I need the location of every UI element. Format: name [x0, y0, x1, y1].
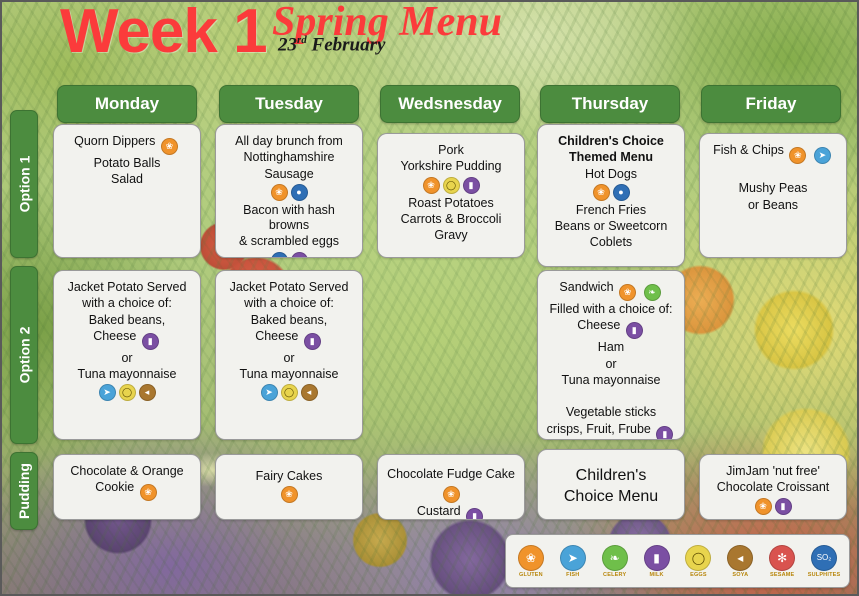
soya-icon: ◂: [727, 545, 753, 571]
title-date-day: 23: [278, 34, 297, 55]
menu-line: Children's: [544, 466, 678, 486]
menu-line: Mushy Peas: [706, 181, 840, 196]
menu-line: Pork: [384, 143, 518, 158]
row-label-pudding-text: Pudding: [16, 463, 32, 519]
allergen-icon-row: ● ▮: [222, 252, 356, 259]
gluten-icon: ❀: [755, 498, 772, 515]
menu-line: Cheese ▮: [544, 318, 678, 339]
allergen-legend: ❀ GLUTEN ➤ FISH ❧ CELERY ▮ MILK ◯ EGGS ◂…: [505, 534, 850, 588]
cell-option2-tuesday: Jacket Potato Served with a choice of: B…: [215, 270, 363, 440]
menu-text: crisps, Fruit, Frube: [547, 422, 651, 436]
menu-line: Tuna mayonnaise: [60, 367, 194, 382]
menu-line: or Beans: [706, 198, 840, 213]
day-header-thursday: Thursday: [540, 85, 680, 123]
celery-icon: ❧: [602, 545, 628, 571]
menu-text: Custard: [417, 504, 461, 518]
eggs-icon: ◯: [685, 545, 711, 571]
title-date: 23rd February: [278, 34, 385, 56]
menu-line: or: [544, 357, 678, 372]
menu-line: or: [222, 351, 356, 366]
menu-line: Tuna mayonnaise: [544, 373, 678, 388]
menu-line: with a choice of:: [60, 296, 194, 311]
legend-label: EGGS: [690, 572, 707, 578]
legend-label: MILK: [649, 572, 663, 578]
allergen-icon-row: ❀ ●: [222, 184, 356, 201]
sulphite-icon: ●: [271, 252, 288, 259]
menu-line: Nottinghamshire: [222, 150, 356, 165]
gluten-icon: ❀: [518, 545, 544, 571]
legend-item-sulphites: SO₂ SULPHITES: [805, 545, 843, 578]
menu-line: Chocolate Croissant: [706, 480, 840, 495]
row-label-option-2-text: Option 2: [16, 327, 32, 384]
allergen-icon-row: ❀ ▮: [706, 498, 840, 515]
day-header-monday: Monday: [57, 85, 197, 123]
menu-line: Yorkshire Pudding: [384, 159, 518, 174]
gluten-icon: ❀: [619, 284, 636, 301]
gluten-icon: ❀: [423, 177, 440, 194]
row-label-pudding: Pudding: [10, 452, 38, 530]
menu-line: Choice Menu: [544, 487, 678, 507]
menu-line: Gravy: [384, 228, 518, 243]
cell-pudding-friday: JimJam 'nut free' Chocolate Croissant ❀ …: [699, 454, 847, 520]
menu-title: Week 1 Spring Menu 23rd February: [0, 0, 859, 72]
cell-option1-wednesday: Pork Yorkshire Pudding ❀ ◯ ▮ Roast Potat…: [377, 133, 525, 258]
menu-line: Chocolate & Orange: [60, 464, 194, 479]
menu-line: Fish & Chips ❀ ➤: [706, 143, 840, 164]
menu-line: Vegetable sticks: [544, 405, 678, 420]
cell-option2-thursday: Sandwich ❀ ❧ Filled with a choice of: Ch…: [537, 270, 685, 440]
menu-text: Fish & Chips: [713, 143, 784, 157]
allergen-icon-row: ➤ ◯ ◂: [222, 384, 356, 401]
cell-pudding-wednesday: Chocolate Fudge Cake ❀ Custard ▮: [377, 454, 525, 520]
gluten-icon: ❀: [161, 138, 178, 155]
menu-text: Cheese: [255, 329, 298, 343]
menu-line: Themed Menu: [544, 150, 678, 165]
cell-option1-friday: Fish & Chips ❀ ➤ Mushy Peas or Beans: [699, 133, 847, 258]
allergen-icon-row: ❀ ◯ ▮: [384, 177, 518, 194]
menu-line: Quorn Dippers ❀: [60, 134, 194, 155]
allergen-icon-row: ❀: [222, 486, 356, 503]
gluten-icon: ❀: [271, 184, 288, 201]
menu-line: Hot Dogs: [544, 167, 678, 182]
legend-item-eggs: ◯ EGGS: [679, 545, 717, 578]
menu-line: Fairy Cakes: [222, 469, 356, 484]
legend-label: SOYA: [732, 572, 748, 578]
day-header-wednesday: Wedsnesday: [380, 85, 520, 123]
menu-line: Baked beans,: [222, 313, 356, 328]
row-label-option-1: Option 1: [10, 110, 38, 258]
gluten-icon: ❀: [789, 147, 806, 164]
menu-line: Roast Potatoes: [384, 196, 518, 211]
milk-icon: ▮: [463, 177, 480, 194]
eggs-icon: ◯: [119, 384, 136, 401]
gluten-icon: ❀: [140, 484, 157, 501]
menu-line: Sandwich ❀ ❧: [544, 280, 678, 301]
menu-text: Cookie: [95, 480, 134, 494]
menu-text: Quorn Dippers: [74, 134, 155, 148]
sulphite-icon: ●: [291, 184, 308, 201]
legend-label: SESAME: [770, 572, 794, 578]
menu-line: Salad: [60, 172, 194, 187]
menu-text: Cheese: [93, 329, 136, 343]
eggs-icon: ◯: [281, 384, 298, 401]
title-date-ordinal: rd: [297, 34, 307, 46]
menu-line: Custard ▮: [384, 504, 518, 520]
menu-line: or: [60, 351, 194, 366]
legend-item-gluten: ❀ GLUTEN: [512, 545, 550, 578]
sesame-icon: ✻: [769, 545, 795, 571]
title-date-month: February: [307, 34, 386, 55]
milk-icon: ▮: [304, 333, 321, 350]
menu-line: French Fries: [544, 203, 678, 218]
allergen-icon-row: ❀ ●: [544, 184, 678, 201]
allergen-icon-row: ➤ ◯ ◂: [60, 384, 194, 401]
cell-option2-monday: Jacket Potato Served with a choice of: B…: [53, 270, 201, 440]
milk-icon: ▮: [291, 252, 308, 259]
milk-icon: ▮: [142, 333, 159, 350]
eggs-icon: ◯: [443, 177, 460, 194]
cell-pudding-monday: Chocolate & Orange Cookie ❀: [53, 454, 201, 520]
menu-line: Cookie ❀: [60, 480, 194, 501]
legend-label: FISH: [566, 572, 579, 578]
gluten-icon: ❀: [443, 486, 460, 503]
legend-label: SULPHITES: [808, 572, 841, 578]
fish-icon: ➤: [560, 545, 586, 571]
legend-item-soya: ◂ SOYA: [721, 545, 759, 578]
row-label-option-2: Option 2: [10, 266, 38, 444]
menu-line: Bacon with hash browns: [222, 203, 356, 234]
menu-line: with a choice of:: [222, 296, 356, 311]
milk-icon: ▮: [644, 545, 670, 571]
gluten-icon: ❀: [281, 486, 298, 503]
legend-item-sesame: ✻ SESAME: [763, 545, 801, 578]
sulphite-icon: SO₂: [811, 545, 837, 571]
menu-line: Tuna mayonnaise: [222, 367, 356, 382]
menu-line: Sausage: [222, 167, 356, 182]
menu-text: Cheese: [577, 318, 620, 332]
menu-line: Ham: [544, 340, 678, 355]
milk-icon: ▮: [626, 322, 643, 339]
menu-line: Cheese ▮: [60, 329, 194, 350]
menu-line: Beans or Sweetcorn: [544, 219, 678, 234]
menu-line: Chocolate Fudge Cake ❀: [384, 467, 518, 503]
soya-icon: ◂: [139, 384, 156, 401]
menu-line: [544, 389, 678, 404]
menu-line: [706, 165, 840, 180]
menu-line: All day brunch from: [222, 134, 356, 149]
menu-text: Chocolate Fudge Cake: [387, 467, 515, 481]
fish-icon: ➤: [814, 147, 831, 164]
menu-line: Carrots & Broccoli: [384, 212, 518, 227]
legend-item-fish: ➤ FISH: [554, 545, 592, 578]
legend-label: GLUTEN: [519, 572, 543, 578]
menu-line: & scrambled eggs: [222, 234, 356, 249]
legend-item-celery: ❧ CELERY: [596, 545, 634, 578]
cell-option1-monday: Quorn Dippers ❀ Potato Balls Salad: [53, 124, 201, 258]
menu-line: Cheese ▮: [222, 329, 356, 350]
soya-icon: ◂: [301, 384, 318, 401]
menu-line: Jacket Potato Served: [222, 280, 356, 295]
cell-pudding-thursday: Children's Choice Menu: [537, 449, 685, 520]
fish-icon: ➤: [99, 384, 116, 401]
legend-item-milk: ▮ MILK: [638, 545, 676, 578]
menu-line: crisps, Fruit, Frube ▮: [544, 422, 678, 441]
cell-pudding-tuesday: Fairy Cakes ❀: [215, 454, 363, 520]
menu-line: Baked beans,: [60, 313, 194, 328]
cell-option1-tuesday: All day brunch from Nottinghamshire Saus…: [215, 124, 363, 258]
menu-line: Jacket Potato Served: [60, 280, 194, 295]
cell-option1-thursday: Children's Choice Themed Menu Hot Dogs ❀…: [537, 124, 685, 267]
menu-line: Children's Choice: [544, 134, 678, 149]
sulphite-icon: ●: [613, 184, 630, 201]
milk-icon: ▮: [466, 508, 483, 520]
menu-text: Sandwich: [559, 280, 613, 294]
milk-icon: ▮: [775, 498, 792, 515]
celery-icon: ❧: [644, 284, 661, 301]
day-header-friday: Friday: [701, 85, 841, 123]
row-label-option-1-text: Option 1: [16, 156, 32, 213]
title-week: Week 1: [60, 0, 267, 67]
milk-icon: ▮: [656, 426, 673, 441]
day-header-tuesday: Tuesday: [219, 85, 359, 123]
menu-line: JimJam 'nut free': [706, 464, 840, 479]
gluten-icon: ❀: [593, 184, 610, 201]
menu-line: Potato Balls: [60, 156, 194, 171]
menu-line: Filled with a choice of:: [544, 302, 678, 317]
menu-line: Coblets: [544, 235, 678, 250]
fish-icon: ➤: [261, 384, 278, 401]
legend-label: CELERY: [603, 572, 626, 578]
